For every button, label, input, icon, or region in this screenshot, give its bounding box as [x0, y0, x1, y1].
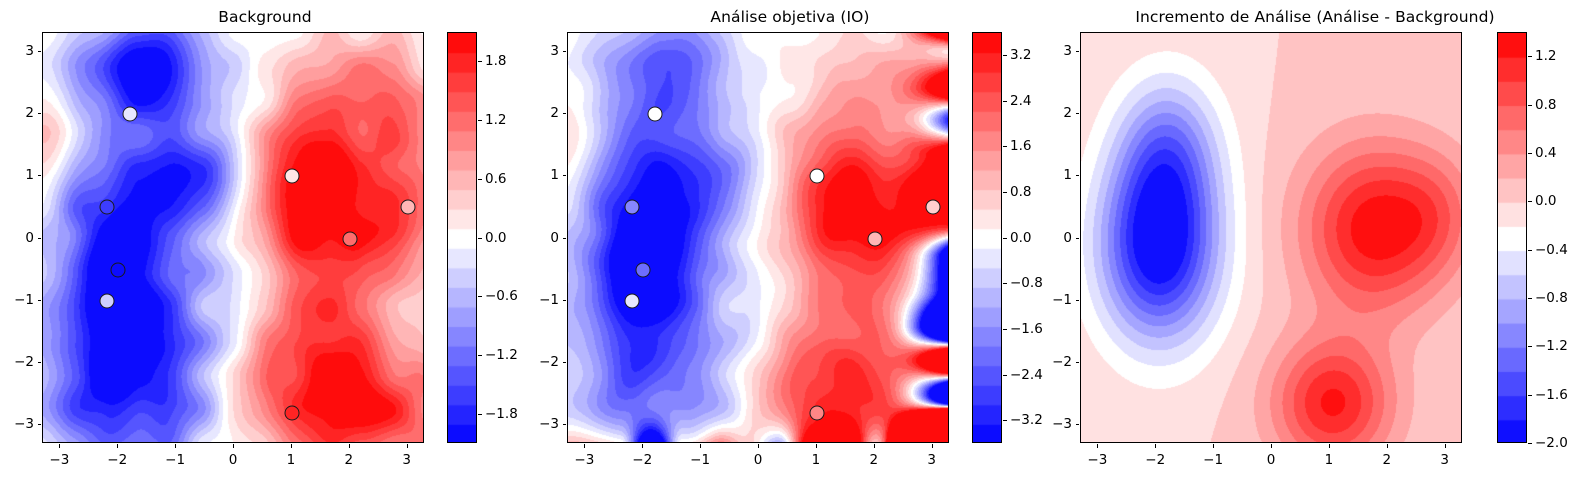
xtick-label-2-6: 3	[1440, 452, 1449, 468]
ytick-label-0-0: −3	[0, 416, 34, 432]
plot-area-1	[567, 32, 949, 443]
xtick-label-0-2: −1	[165, 452, 185, 468]
colorbar-tick-mark-1-1	[1003, 101, 1007, 102]
ytick-mark-1-6	[563, 51, 567, 52]
colorbar-tick-mark-0-2	[478, 179, 482, 180]
xtick-label-0-0: −3	[49, 452, 69, 468]
ytick-mark-1-1	[563, 362, 567, 363]
xtick-mark-1-5	[874, 444, 875, 448]
observation-marker	[284, 169, 299, 184]
xtick-mark-0-6	[407, 444, 408, 448]
ytick-mark-2-5	[1076, 113, 1080, 114]
ytick-label-0-3: 0	[0, 230, 34, 246]
xtick-mark-1-1	[642, 444, 643, 448]
colorbar-tick-mark-1-6	[1003, 329, 1007, 330]
colorbar-tick-mark-0-6	[478, 414, 482, 415]
xtick-mark-0-0	[59, 444, 60, 448]
xtick-label-2-4: 1	[1325, 452, 1334, 468]
colorbar-tick-mark-2-1	[1528, 105, 1532, 106]
ytick-label-1-5: 2	[501, 105, 559, 121]
colorbar-gradient-0	[448, 33, 477, 443]
colorbar-tick-label-1-3: 0.8	[1010, 184, 1031, 200]
colorbar-tick-mark-1-5	[1003, 283, 1007, 284]
ytick-label-0-2: −1	[0, 292, 34, 308]
colorbar-tick-mark-2-3	[1528, 201, 1532, 202]
ytick-mark-0-2	[38, 300, 42, 301]
xtick-mark-0-5	[349, 444, 350, 448]
xtick-label-2-5: 2	[1382, 452, 1391, 468]
colorbar-tick-mark-1-4	[1003, 238, 1007, 239]
ytick-mark-2-4	[1076, 175, 1080, 176]
ytick-label-2-6: 3	[1014, 43, 1072, 59]
colorbar-tick-mark-0-1	[478, 120, 482, 121]
ytick-mark-2-3	[1076, 238, 1080, 239]
xtick-mark-2-3	[1271, 444, 1272, 448]
xtick-mark-1-6	[932, 444, 933, 448]
observation-marker	[867, 231, 882, 246]
xtick-label-1-1: −2	[632, 452, 652, 468]
colorbar-tick-mark-1-3	[1003, 192, 1007, 193]
xtick-mark-2-4	[1329, 444, 1330, 448]
colorbar-tick-label-2-0: 1.2	[1535, 48, 1556, 64]
xtick-mark-2-6	[1445, 444, 1446, 448]
colorbar-tick-label-1-6: −1.6	[1010, 321, 1043, 337]
contour-field-0	[43, 33, 424, 443]
ytick-label-1-2: −1	[501, 292, 559, 308]
ytick-mark-0-5	[38, 113, 42, 114]
ytick-mark-2-6	[1076, 51, 1080, 52]
ytick-mark-1-0	[563, 424, 567, 425]
observation-marker	[647, 106, 662, 121]
observation-marker	[925, 200, 940, 215]
colorbar-tick-label-2-3: 0.0	[1535, 193, 1556, 209]
colorbar-tick-mark-1-0	[1003, 55, 1007, 56]
ytick-mark-0-3	[38, 238, 42, 239]
xtick-mark-0-4	[291, 444, 292, 448]
colorbar-0	[447, 32, 477, 443]
ytick-mark-0-4	[38, 175, 42, 176]
colorbar-tick-mark-2-2	[1528, 153, 1532, 154]
observation-marker	[400, 200, 415, 215]
colorbar-tick-label-2-2: 0.4	[1535, 145, 1556, 161]
colorbar-tick-mark-1-8	[1003, 420, 1007, 421]
colorbar-tick-label-2-1: 0.8	[1535, 97, 1556, 113]
xtick-mark-2-2	[1213, 444, 1214, 448]
colorbar-tick-mark-0-3	[478, 238, 482, 239]
colorbar-2	[1497, 32, 1527, 443]
xtick-label-0-5: 2	[344, 452, 353, 468]
xtick-label-2-3: 0	[1267, 452, 1276, 468]
xtick-label-0-6: 3	[402, 452, 411, 468]
ytick-mark-2-1	[1076, 362, 1080, 363]
observation-marker	[636, 262, 651, 277]
observation-marker	[624, 293, 639, 308]
observation-marker	[99, 293, 114, 308]
colorbar-tick-label-1-5: −0.8	[1010, 275, 1043, 291]
figure-canvas: Background−3−2−10123−3−2−101231.81.20.60…	[0, 0, 1580, 486]
plot-area-2	[1080, 32, 1462, 443]
colorbar-tick-label-2-7: −1.6	[1535, 387, 1568, 403]
ytick-label-2-0: −3	[1014, 416, 1072, 432]
colorbar-tick-label-2-5: −0.8	[1535, 290, 1568, 306]
observation-marker	[111, 262, 126, 277]
ytick-mark-2-2	[1076, 300, 1080, 301]
ytick-mark-1-4	[563, 175, 567, 176]
xtick-label-1-4: 1	[812, 452, 821, 468]
xtick-label-1-0: −3	[574, 452, 594, 468]
colorbar-gradient-1	[973, 33, 1002, 443]
xtick-label-0-4: 1	[287, 452, 296, 468]
ytick-label-2-1: −2	[1014, 354, 1072, 370]
colorbar-tick-mark-0-4	[478, 296, 482, 297]
xtick-label-1-5: 2	[869, 452, 878, 468]
ytick-label-0-5: 2	[0, 105, 34, 121]
colorbar-tick-mark-2-5	[1528, 298, 1532, 299]
xtick-mark-1-3	[758, 444, 759, 448]
ytick-mark-0-1	[38, 362, 42, 363]
colorbar-gradient-2	[1498, 33, 1527, 443]
colorbar-tick-mark-1-7	[1003, 375, 1007, 376]
colorbar-1	[972, 32, 1002, 443]
colorbar-tick-mark-2-6	[1528, 346, 1532, 347]
plot-area-0	[42, 32, 424, 443]
xtick-mark-2-0	[1097, 444, 1098, 448]
xtick-label-0-1: −2	[107, 452, 127, 468]
observation-marker	[284, 405, 299, 420]
xtick-label-2-1: −2	[1145, 452, 1165, 468]
xtick-label-1-3: 0	[754, 452, 763, 468]
xtick-label-2-2: −1	[1203, 452, 1223, 468]
ytick-label-2-3: 0	[1014, 230, 1072, 246]
ytick-label-2-2: −1	[1014, 292, 1072, 308]
colorbar-tick-mark-0-0	[478, 61, 482, 62]
ytick-label-2-4: 1	[1014, 167, 1072, 183]
ytick-mark-1-3	[563, 238, 567, 239]
contour-field-1	[568, 33, 949, 443]
xtick-mark-2-1	[1155, 444, 1156, 448]
ytick-label-1-4: 1	[501, 167, 559, 183]
ytick-label-0-6: 3	[0, 43, 34, 59]
xtick-label-2-0: −3	[1087, 452, 1107, 468]
colorbar-tick-label-1-2: 1.6	[1010, 138, 1031, 154]
observation-marker	[809, 169, 824, 184]
xtick-mark-1-2	[700, 444, 701, 448]
panel-title-2: Incremento de Análise (Análise - Backgro…	[915, 8, 1580, 26]
xtick-mark-0-1	[117, 444, 118, 448]
colorbar-tick-label-2-4: −0.4	[1535, 242, 1568, 258]
ytick-mark-2-0	[1076, 424, 1080, 425]
colorbar-tick-mark-1-2	[1003, 146, 1007, 147]
colorbar-tick-mark-2-4	[1528, 250, 1532, 251]
ytick-label-1-3: 0	[501, 230, 559, 246]
xtick-mark-2-5	[1387, 444, 1388, 448]
ytick-mark-0-0	[38, 424, 42, 425]
colorbar-tick-mark-2-7	[1528, 395, 1532, 396]
colorbar-tick-mark-2-8	[1528, 443, 1532, 444]
ytick-label-1-6: 3	[501, 43, 559, 59]
observation-marker	[809, 405, 824, 420]
ytick-mark-0-6	[38, 51, 42, 52]
xtick-label-1-2: −1	[690, 452, 710, 468]
ytick-mark-1-2	[563, 300, 567, 301]
ytick-label-2-5: 2	[1014, 105, 1072, 121]
xtick-mark-1-4	[816, 444, 817, 448]
xtick-mark-0-3	[233, 444, 234, 448]
observation-marker	[624, 200, 639, 215]
contour-field-2	[1081, 33, 1462, 443]
observation-marker	[122, 106, 137, 121]
colorbar-tick-mark-2-0	[1528, 56, 1532, 57]
ytick-label-1-1: −2	[501, 354, 559, 370]
xtick-label-1-6: 3	[927, 452, 936, 468]
colorbar-tick-label-2-8: −2.0	[1535, 435, 1568, 451]
ytick-label-1-0: −3	[501, 416, 559, 432]
xtick-mark-1-0	[584, 444, 585, 448]
ytick-label-0-1: −2	[0, 354, 34, 370]
ytick-mark-1-5	[563, 113, 567, 114]
observation-marker	[99, 200, 114, 215]
xtick-label-0-3: 0	[229, 452, 238, 468]
colorbar-tick-label-2-6: −1.2	[1535, 338, 1568, 354]
ytick-label-0-4: 1	[0, 167, 34, 183]
xtick-mark-0-2	[175, 444, 176, 448]
colorbar-tick-mark-0-5	[478, 355, 482, 356]
observation-marker	[342, 231, 357, 246]
